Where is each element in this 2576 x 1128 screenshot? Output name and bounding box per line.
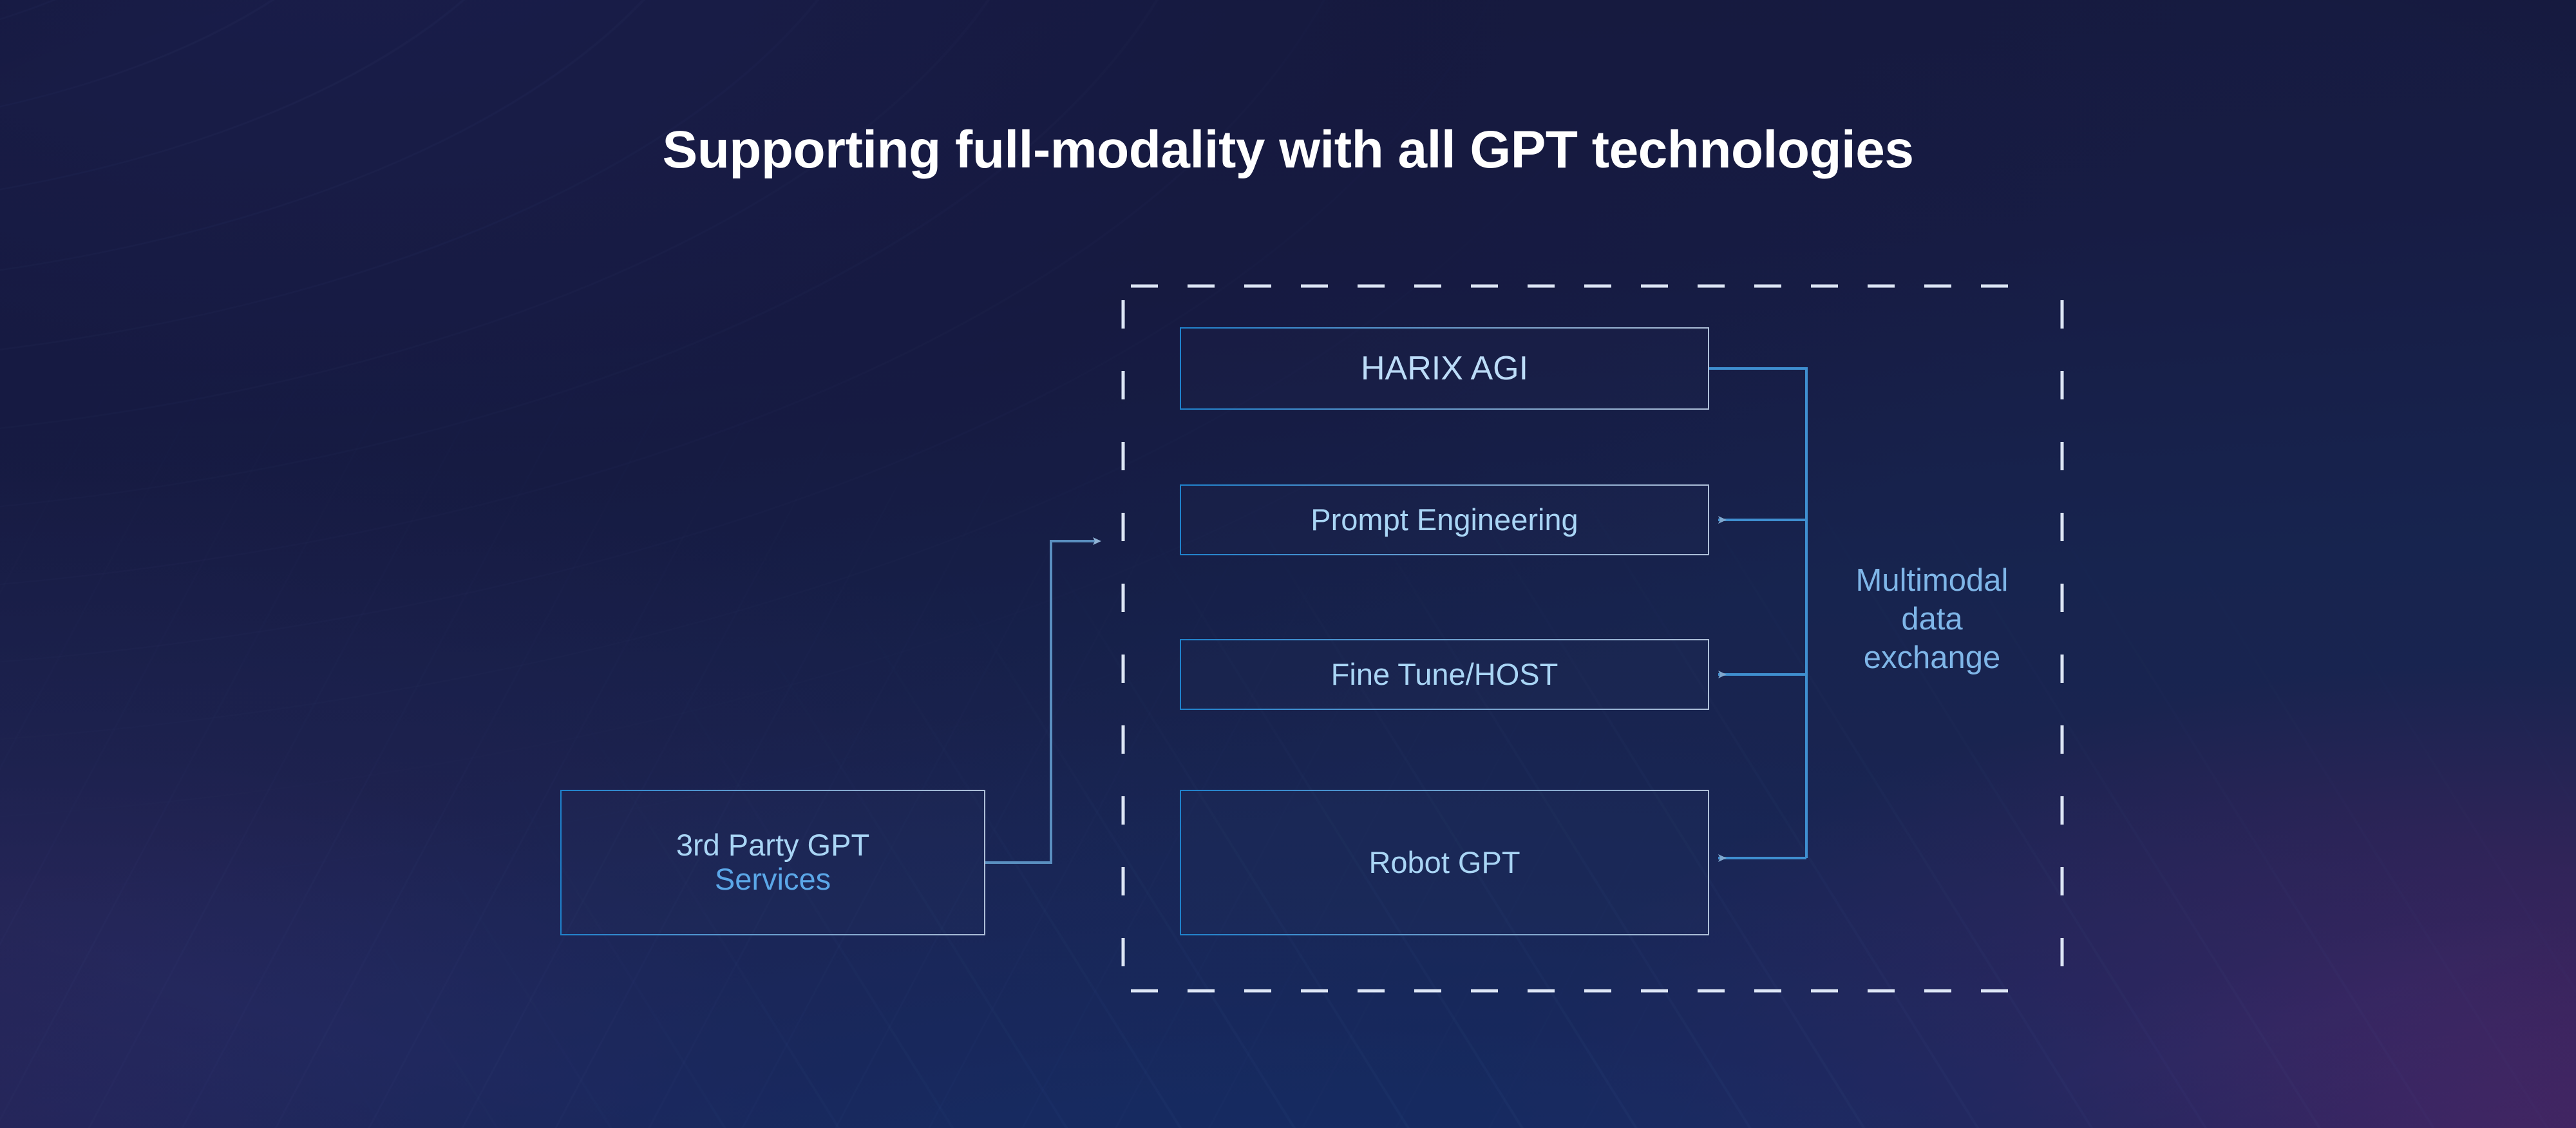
node-prompt-engineering[interactable]: Prompt Engineering [1180, 484, 1709, 555]
connector-thirdparty-to-platform [985, 541, 1095, 863]
node-third-party-gpt-services[interactable]: 3rd Party GPT Services [560, 790, 985, 935]
node-fine-tune-host[interactable]: Fine Tune/HOST [1180, 639, 1709, 710]
node-harix-agi-label: HARIX AGI [1361, 350, 1528, 387]
node-fine-tune-host-label: Fine Tune/HOST [1331, 658, 1558, 692]
annotation-line-3: exchange [1816, 639, 2048, 678]
third-party-line-2: Services [715, 862, 831, 896]
node-harix-agi[interactable]: HARIX AGI [1180, 327, 1709, 410]
node-robot-gpt[interactable]: Robot GPT [1180, 790, 1709, 935]
annotation-multimodal-data-exchange: Multimodal data exchange [1816, 562, 2048, 677]
harix-distribution-bus [1709, 368, 1806, 858]
node-robot-gpt-label: Robot GPT [1368, 846, 1520, 880]
node-third-party-gpt-services-label: 3rd Party GPT Services [676, 828, 869, 896]
annotation-line-2: data [1816, 600, 2048, 639]
node-prompt-engineering-label: Prompt Engineering [1311, 503, 1578, 537]
third-party-line-1: 3rd Party GPT [676, 828, 869, 862]
slide-canvas: Supporting full-modality with all GPT te… [0, 0, 2576, 1128]
diagram-connectors-layer [0, 0, 2576, 1128]
annotation-line-1: Multimodal [1816, 562, 2048, 600]
